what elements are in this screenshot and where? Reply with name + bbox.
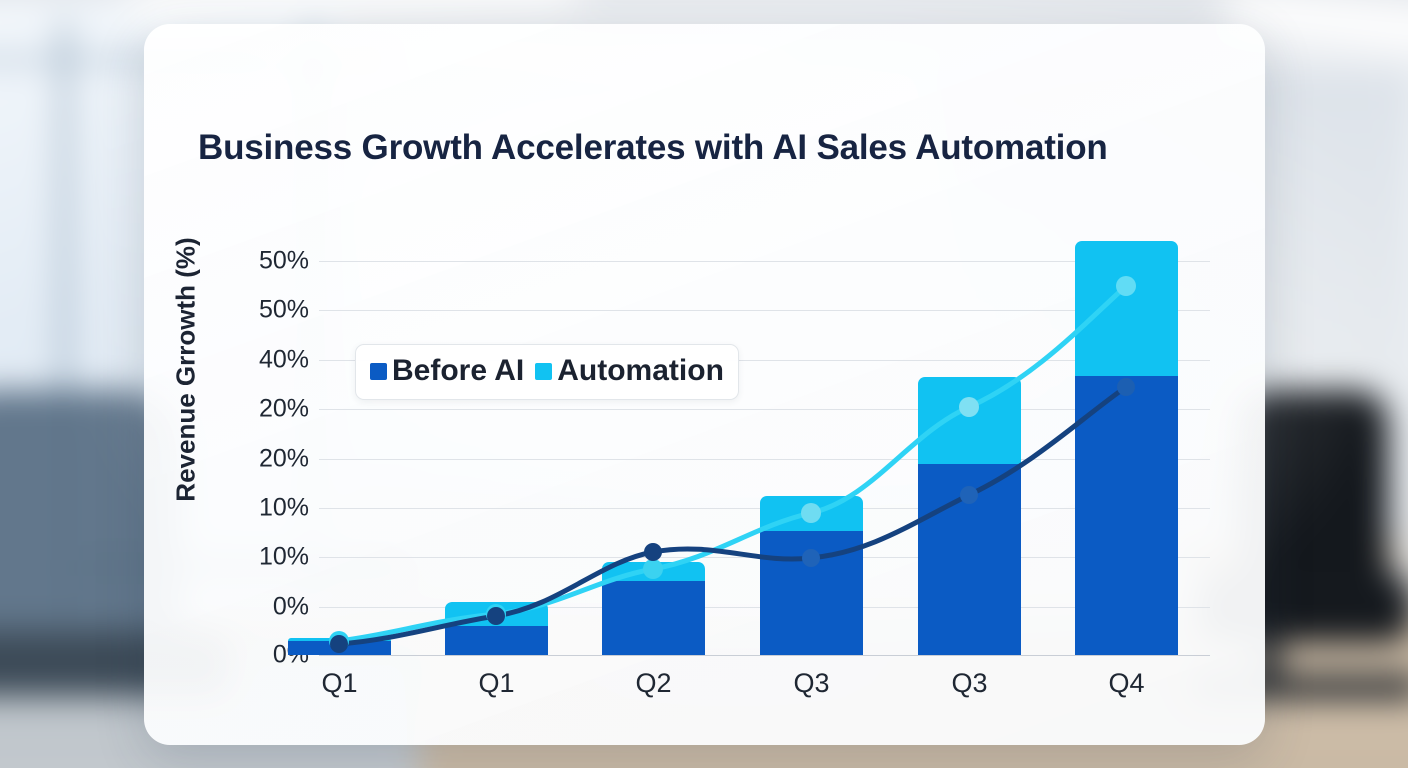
before-ai-trend-line — [339, 387, 1126, 644]
data-point-marker[interactable] — [801, 503, 821, 523]
screenshot-stage: Business Growth Accelerates with AI Sale… — [0, 0, 1408, 768]
legend-label: Before AI — [392, 354, 524, 388]
data-point-marker[interactable] — [802, 549, 820, 567]
legend-item-automation[interactable]: Automation — [535, 354, 724, 388]
x-tick-label: Q3 — [918, 668, 1021, 699]
data-point-marker[interactable] — [644, 543, 662, 561]
x-tick-label: Q1 — [445, 668, 548, 699]
data-point-marker[interactable] — [330, 635, 348, 653]
chart-legend[interactable]: Before AI Automation — [355, 344, 739, 400]
x-tick-label: Q2 — [602, 668, 705, 699]
x-tick-label: Q4 — [1075, 668, 1178, 699]
x-tick-label: Q1 — [288, 668, 391, 699]
chart-card: Business Growth Accelerates with AI Sale… — [144, 24, 1265, 745]
data-point-marker[interactable] — [1117, 378, 1135, 396]
legend-item-before-ai[interactable]: Before AI — [370, 354, 524, 388]
data-point-marker[interactable] — [959, 397, 979, 417]
data-point-marker[interactable] — [487, 607, 505, 625]
x-tick-label: Q3 — [760, 668, 863, 699]
legend-swatch-icon — [535, 363, 552, 380]
legend-label: Automation — [557, 354, 724, 388]
data-point-marker[interactable] — [960, 486, 978, 504]
data-point-marker[interactable] — [643, 559, 663, 579]
chart-plot-area: Revenue Grrowth (%) 50% 50% 40% 20% 20% — [144, 24, 1265, 745]
legend-swatch-icon — [370, 363, 387, 380]
data-point-marker[interactable] — [1116, 276, 1136, 296]
automation-trend-line — [339, 286, 1126, 641]
